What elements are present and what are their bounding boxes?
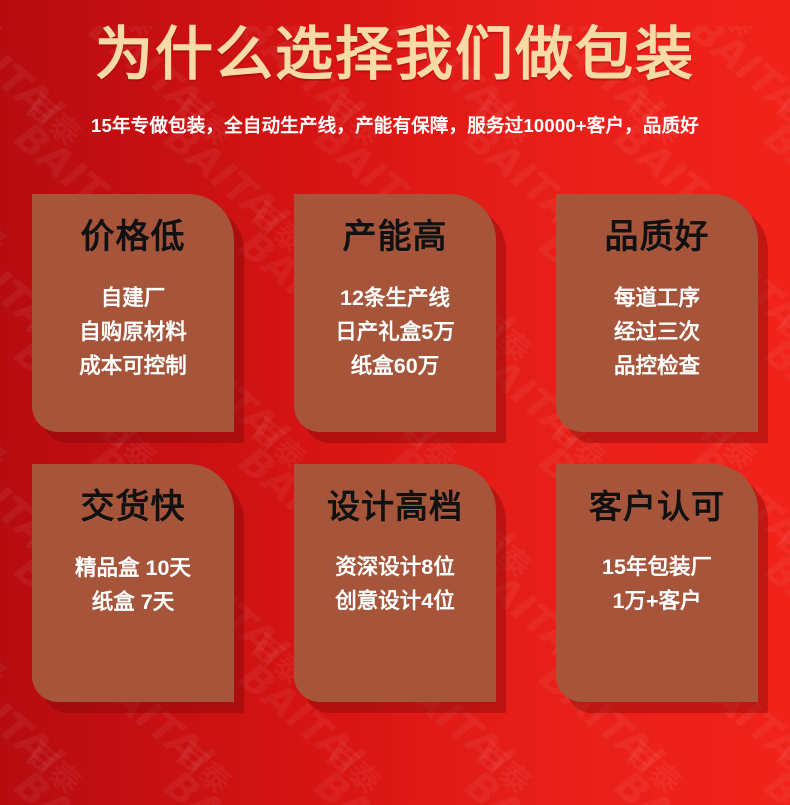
- feature-card-title: 价格低: [40, 220, 226, 256]
- feature-card-title: 客户认可: [564, 490, 750, 525]
- brand-watermark-cn: 百泰: [0, 622, 17, 694]
- feature-card-detail-line: 12条生产线: [302, 282, 488, 316]
- page-subtitle: 15年专做包装，全自动生产线，产能有保障，服务过10000+客户，品质好: [0, 112, 790, 138]
- feature-card-title: 产能高: [302, 220, 488, 256]
- feature-card-detail-line: 精品盒 10天: [40, 552, 226, 586]
- brand-watermark: BAITAI: [305, 762, 447, 805]
- feature-card: 产能高12条生产线日产礼盒5万纸盒60万: [294, 194, 496, 432]
- brand-watermark: BAITAI: [5, 762, 147, 805]
- feature-card-details: 自建厂自购原材料成本可控制: [40, 282, 226, 384]
- feature-card-detail-line: 资深设计8位: [302, 551, 488, 585]
- page-title: 为什么选择我们做包装: [0, 26, 790, 84]
- brand-watermark: BAITAI: [755, 330, 790, 459]
- brand-watermark: BAITAI: [155, 762, 297, 805]
- brand-watermark-cn: 百泰: [0, 406, 17, 478]
- feature-card: 价格低自建厂自购原材料成本可控制: [32, 194, 234, 432]
- feature-card-detail-line: 纸盒 7天: [40, 586, 226, 620]
- feature-card-detail-line: 纸盒60万: [302, 350, 488, 384]
- brand-watermark-cn: 百泰: [768, 298, 790, 370]
- feature-card-detail-line: 1万+客户: [564, 585, 750, 619]
- brand-watermark-cn: 百泰: [168, 730, 242, 802]
- feature-card-details: 精品盒 10天纸盒 7天: [40, 552, 226, 620]
- brand-watermark-cn: 百泰: [768, 514, 790, 586]
- feature-card-detail-line: 品控检查: [564, 350, 750, 384]
- feature-card-detail-line: 创意设计4位: [302, 585, 488, 619]
- feature-card-detail-line: 15年包装厂: [564, 551, 750, 585]
- feature-card: 品质好每道工序经过三次品控检查: [556, 194, 758, 432]
- feature-card-detail-line: 自建厂: [40, 282, 226, 316]
- feature-card-details: 15年包装厂1万+客户: [564, 551, 750, 619]
- header: 为什么选择我们做包装 15年专做包装，全自动生产线，产能有保障，服务过10000…: [0, 26, 790, 138]
- feature-card-title: 设计高档: [302, 490, 488, 525]
- feature-card-title: 品质好: [564, 220, 750, 256]
- brand-watermark: BAITAI: [455, 762, 597, 805]
- brand-watermark-cn: 百泰: [18, 730, 92, 802]
- feature-card-title: 交货快: [40, 490, 226, 526]
- brand-watermark-cn: 百泰: [468, 730, 542, 802]
- feature-card-details: 12条生产线日产礼盒5万纸盒60万: [302, 282, 488, 384]
- feature-card-detail-line: 自购原材料: [40, 316, 226, 350]
- feature-card-details: 资深设计8位创意设计4位: [302, 551, 488, 619]
- feature-card: 交货快精品盒 10天纸盒 7天: [32, 464, 234, 702]
- brand-watermark-cn: 百泰: [318, 730, 392, 802]
- brand-watermark-cn: 百泰: [618, 730, 692, 802]
- feature-card: 客户认可15年包装厂1万+客户: [556, 464, 758, 702]
- feature-card-detail-line: 经过三次: [564, 316, 750, 350]
- brand-watermark-cn: 百泰: [768, 730, 790, 802]
- feature-card-detail-line: 日产礼盒5万: [302, 316, 488, 350]
- feature-card: 设计高档资深设计8位创意设计4位: [294, 464, 496, 702]
- feature-card-detail-line: 每道工序: [564, 282, 750, 316]
- feature-card-grid: 价格低自建厂自购原材料成本可控制产能高12条生产线日产礼盒5万纸盒60万品质好每…: [32, 194, 758, 702]
- brand-watermark: BAITAI: [755, 762, 790, 805]
- brand-watermark: BAITAI: [605, 762, 747, 805]
- feature-card-details: 每道工序经过三次品控检查: [564, 282, 750, 384]
- brand-watermark: BAITAI: [755, 546, 790, 675]
- feature-card-detail-line: 成本可控制: [40, 350, 226, 384]
- brand-watermark-cn: 百泰: [0, 190, 17, 262]
